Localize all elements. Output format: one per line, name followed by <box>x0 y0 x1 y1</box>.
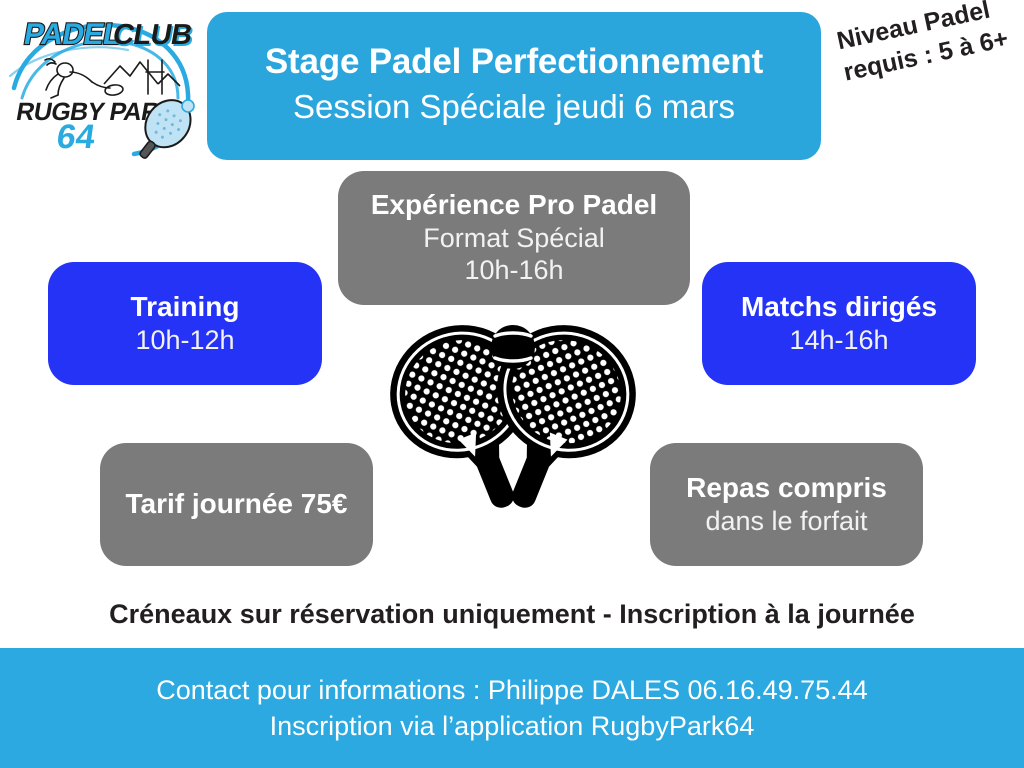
info-box-experience: Expérience Pro Padel Format Spécial 10h-… <box>338 171 690 305</box>
info-box-matchs-title: Matchs dirigés <box>741 291 937 323</box>
info-box-repas: Repas compris dans le forfait <box>650 443 923 566</box>
footer-band: Contact pour informations : Philippe DAL… <box>0 648 1024 768</box>
info-box-matchs-hours: 14h-16h <box>789 324 888 356</box>
info-box-experience-line3: 10h-16h <box>464 254 563 286</box>
crossed-padel-rackets-icon <box>345 305 681 520</box>
info-box-training: Training 10h-12h <box>48 262 322 385</box>
title-banner: Stage Padel Perfectionnement Session Spé… <box>207 12 821 160</box>
page-subtitle: Session Spéciale jeudi 6 mars <box>293 87 735 127</box>
info-box-training-title: Training <box>131 291 240 323</box>
info-box-repas-line2: dans le forfait <box>705 505 867 537</box>
info-box-training-hours: 10h-12h <box>135 324 234 356</box>
page-title: Stage Padel Perfectionnement <box>265 42 763 81</box>
club-logo: PADEL CLUB CLUB <box>8 2 204 164</box>
info-box-tarif-title: Tarif journée 75€ <box>125 488 347 520</box>
padel-ball <box>491 325 535 369</box>
tagline: Créneaux sur réservation uniquement - In… <box>0 598 1024 630</box>
info-box-matchs: Matchs dirigés 14h-16h <box>702 262 976 385</box>
svg-text:PADEL: PADEL <box>21 18 124 51</box>
info-box-experience-line2: Format Spécial <box>423 222 605 254</box>
footer-registration-line: Inscription via l’application RugbyPark6… <box>270 708 755 744</box>
info-box-experience-title: Expérience Pro Padel <box>371 189 657 221</box>
info-box-tarif: Tarif journée 75€ <box>100 443 373 566</box>
poster-canvas: PADEL CLUB CLUB <box>0 0 1024 768</box>
footer-contact-line: Contact pour informations : Philippe DAL… <box>156 672 867 708</box>
svg-text:64: 64 <box>54 118 97 156</box>
svg-text:CLUB: CLUB <box>110 19 194 51</box>
level-requirement-note: Niveau Padel requis : 5 à 6+ <box>834 0 1024 89</box>
info-box-repas-title: Repas compris <box>686 472 887 504</box>
